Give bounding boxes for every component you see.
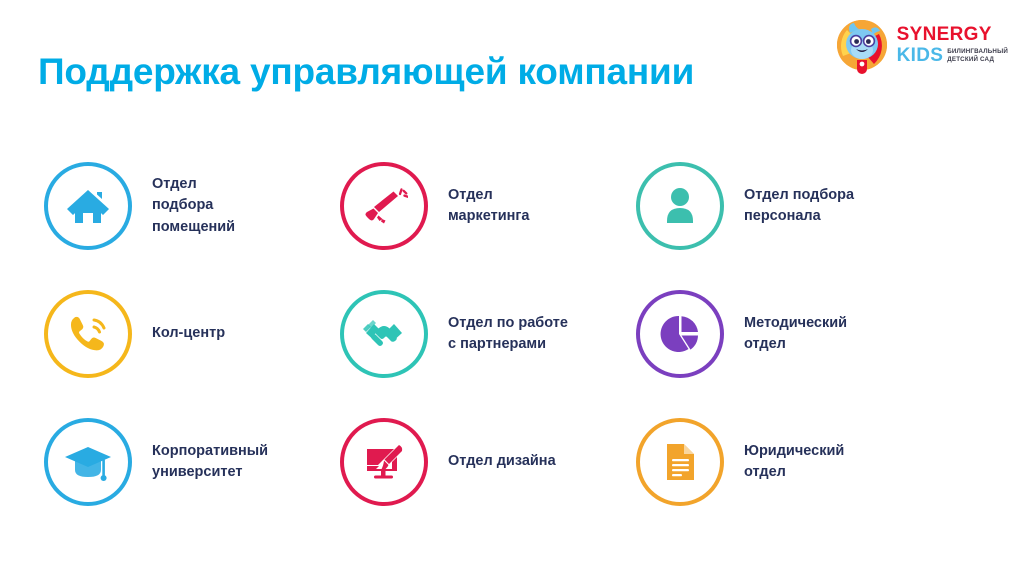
design-monitor-brush-icon bbox=[360, 438, 408, 486]
department-label: Отдел дизайна bbox=[448, 451, 556, 472]
departments-grid: Отдел подбора помещений Отдел маркетинга bbox=[0, 142, 1024, 526]
department-label: Отдел маркетинга bbox=[448, 185, 529, 227]
logo-tagline-line-2: ДЕТСКИЙ САД bbox=[947, 56, 1008, 64]
department-item[interactable]: Корпоративный университет bbox=[44, 398, 340, 526]
department-item[interactable]: Юридический отдел bbox=[636, 398, 966, 526]
pie-chart-icon bbox=[657, 311, 703, 357]
department-icon-badge bbox=[636, 162, 724, 250]
department-icon-badge bbox=[636, 418, 724, 506]
department-icon-badge bbox=[44, 290, 132, 378]
department-item[interactable]: Отдел подбора помещений bbox=[44, 142, 340, 270]
logo-wordmark: SYNERGY KIDS БИЛИНГВАЛЬНЫЙ ДЕТСКИЙ САД bbox=[897, 25, 1008, 65]
department-icon-badge bbox=[340, 290, 428, 378]
department-item[interactable]: Отдел маркетинга bbox=[340, 142, 636, 270]
logo-tagline: БИЛИНГВАЛЬНЫЙ ДЕТСКИЙ САД bbox=[947, 48, 1008, 65]
department-label: Юридический отдел bbox=[744, 441, 844, 483]
department-label: Кол-центр bbox=[152, 323, 225, 344]
department-label: Отдел по работе с партнерами bbox=[448, 313, 568, 355]
logo-synergy-text: SYNERGY bbox=[897, 25, 1008, 44]
person-icon bbox=[656, 182, 704, 230]
department-icon-badge bbox=[340, 162, 428, 250]
graduation-cap-icon bbox=[63, 437, 113, 487]
department-label: Корпоративный университет bbox=[152, 441, 268, 483]
department-item[interactable]: Отдел дизайна bbox=[340, 398, 636, 526]
logo-tagline-line-1: БИЛИНГВАЛЬНЫЙ bbox=[947, 48, 1008, 56]
phone-icon bbox=[64, 310, 112, 358]
department-label: Отдел подбора персонала bbox=[744, 185, 854, 227]
dragon-mascot-icon bbox=[833, 16, 891, 74]
department-item[interactable]: Методический отдел bbox=[636, 270, 966, 398]
department-label: Отдел подбора помещений bbox=[152, 174, 235, 237]
department-icon-badge bbox=[340, 418, 428, 506]
department-item[interactable]: Кол-центр bbox=[44, 270, 340, 398]
megaphone-icon bbox=[360, 182, 408, 230]
document-icon bbox=[657, 439, 703, 485]
logo-kids-text: KIDS bbox=[897, 46, 944, 65]
department-item[interactable]: Отдел подбора персонала bbox=[636, 142, 966, 270]
handshake-icon bbox=[359, 309, 409, 359]
department-icon-badge bbox=[636, 290, 724, 378]
department-label: Методический отдел bbox=[744, 313, 847, 355]
department-icon-badge bbox=[44, 418, 132, 506]
department-item[interactable]: Отдел по работе с партнерами bbox=[340, 270, 636, 398]
house-icon bbox=[64, 182, 112, 230]
synergy-kids-logo: SYNERGY KIDS БИЛИНГВАЛЬНЫЙ ДЕТСКИЙ САД bbox=[833, 16, 1008, 74]
page-title: Поддержка управляющей компании bbox=[38, 52, 694, 93]
department-icon-badge bbox=[44, 162, 132, 250]
